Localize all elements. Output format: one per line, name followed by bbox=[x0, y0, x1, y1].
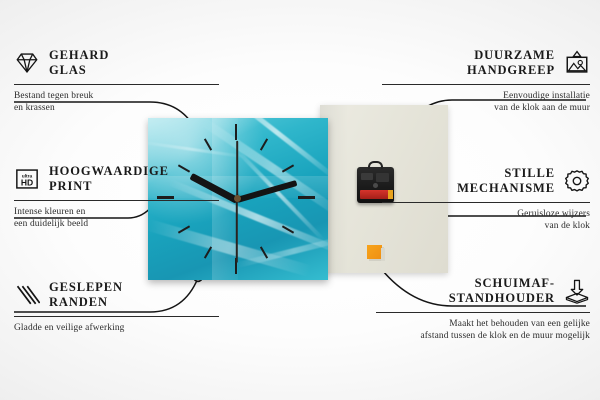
feature-description-line1: Bestand tegen breuk bbox=[14, 90, 219, 103]
hour-marker bbox=[235, 124, 237, 140]
clock-second-hand-tail bbox=[236, 141, 238, 199]
diamond-icon bbox=[14, 50, 40, 76]
feature-gehard-glas: GEHARD GLAS Bestand tegen breuk en krass… bbox=[14, 48, 219, 115]
infographic-canvas: GEHARD GLAS Bestand tegen breuk en krass… bbox=[0, 0, 600, 400]
movement-hanger-icon bbox=[368, 161, 383, 169]
feature-divider bbox=[14, 200, 219, 201]
feature-hoogwaardige-print: ultra HD HOOGWAARDIGE PRINT Intense kleu… bbox=[14, 164, 219, 231]
hour-marker bbox=[282, 164, 294, 172]
feature-header: ultra HD HOOGWAARDIGE PRINT bbox=[14, 164, 219, 194]
feature-title: STILLE MECHANISME bbox=[457, 166, 555, 196]
svg-text:HD: HD bbox=[21, 177, 33, 187]
down-arrow-stack-icon bbox=[564, 278, 590, 304]
feature-title: SCHUIMAF- STANDHOUDER bbox=[449, 276, 555, 306]
feature-description-line1: Intense kleuren en bbox=[14, 206, 219, 219]
hour-marker bbox=[204, 246, 212, 258]
feature-header: GEHARD GLAS bbox=[14, 48, 219, 78]
feature-title: GESLEPEN RANDEN bbox=[49, 280, 123, 310]
foam-spacer-pad bbox=[367, 245, 382, 259]
feature-description-line1: Maakt het behouden van een gelijke bbox=[376, 318, 590, 331]
feature-description-line1: Eenvoudige installatie bbox=[382, 90, 590, 103]
feature-stille-mechanisme: STILLE MECHANISME Geruisloze wijzers van… bbox=[382, 166, 590, 233]
feature-description-line2: van de klok bbox=[382, 220, 590, 233]
hour-marker bbox=[260, 138, 268, 150]
feature-divider bbox=[382, 84, 590, 85]
feature-header: GESLEPEN RANDEN bbox=[14, 280, 219, 310]
movement-shaft bbox=[373, 183, 378, 188]
feature-description-line2: en krassen bbox=[14, 102, 219, 115]
feature-header: DUURZAME HANDGREEP bbox=[382, 48, 590, 78]
feature-header: STILLE MECHANISME bbox=[382, 166, 590, 196]
feature-divider bbox=[376, 312, 590, 313]
clock-center-pivot bbox=[234, 195, 241, 202]
feature-description-line1: Geruisloze wijzers bbox=[382, 208, 590, 221]
gear-icon bbox=[564, 168, 590, 194]
feature-title: HOOGWAARDIGE PRINT bbox=[49, 164, 169, 194]
feature-description-line2: een duidelijk beeld bbox=[14, 218, 219, 231]
ultra-hd-icon: ultra HD bbox=[14, 166, 40, 192]
feature-description-line1: Gladde en veilige afwerking bbox=[14, 322, 219, 335]
clock-second-hand bbox=[236, 199, 238, 263]
diagonal-lines-icon bbox=[14, 282, 40, 308]
feature-divider bbox=[14, 316, 219, 317]
feature-divider bbox=[382, 202, 590, 203]
hour-marker bbox=[298, 196, 315, 199]
hour-marker bbox=[204, 138, 212, 150]
feature-description-line2: afstand tussen de klok en de muur mogeli… bbox=[376, 330, 590, 343]
hour-marker bbox=[260, 246, 268, 258]
feature-schuimafstandhouder: SCHUIMAF- STANDHOUDER Maakt het behouden… bbox=[376, 276, 590, 343]
picture-frame-icon bbox=[564, 50, 590, 76]
feature-geslepen-randen: GESLEPEN RANDEN Gladde en veilige afwerk… bbox=[14, 280, 219, 334]
feature-divider bbox=[14, 84, 219, 85]
feature-title: GEHARD GLAS bbox=[49, 48, 109, 78]
clock-minute-hand bbox=[236, 180, 297, 203]
movement-detail-left bbox=[361, 173, 373, 180]
feature-header: SCHUIMAF- STANDHOUDER bbox=[376, 276, 590, 306]
feature-description-line2: van de klok aan de muur bbox=[382, 102, 590, 115]
hour-marker bbox=[282, 225, 294, 233]
feature-title: DUURZAME HANDGREEP bbox=[467, 48, 555, 78]
feature-duurzame-handgreep: DUURZAME HANDGREEP Eenvoudige installati… bbox=[382, 48, 590, 115]
